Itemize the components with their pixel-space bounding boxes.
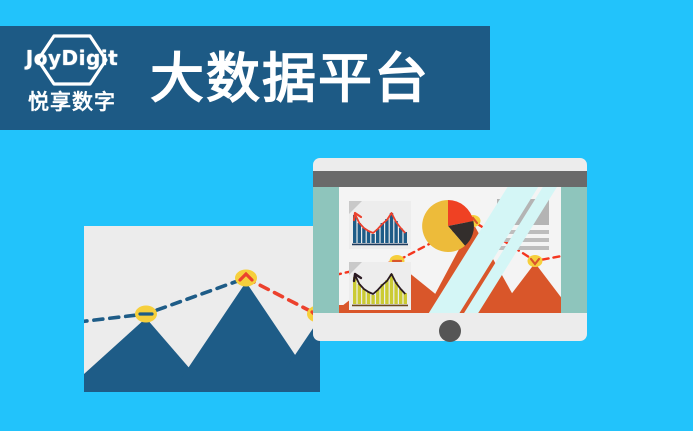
brand-logo-subtitle: 悦享数字 — [16, 92, 128, 113]
brand-logo: JoyDigit 悦享数字 — [16, 32, 128, 124]
header-banner: JoyDigit 悦享数字 大数据平台 — [0, 26, 490, 130]
screen-right-band — [561, 187, 587, 313]
donut-pie-chart — [421, 199, 475, 253]
mountain-area-series — [84, 282, 320, 392]
olive-bar-chart-card — [349, 262, 411, 310]
monitor-top-bezel — [313, 171, 587, 187]
monitor-screen — [313, 187, 587, 313]
desktop-monitor — [313, 158, 587, 341]
webcam-icon — [439, 320, 461, 342]
left-mountain-chart-svg — [84, 226, 320, 392]
text-line — [497, 230, 549, 234]
page-title: 大数据平台 — [150, 52, 430, 106]
poster-canvas: JoyDigit 悦享数字 大数据平台 — [0, 0, 693, 431]
olive-bar-chart-svg — [352, 270, 408, 308]
brand-logo-name: JoyDigit — [16, 48, 128, 68]
blue-bar-chart-card — [349, 201, 411, 249]
article-placeholder — [497, 199, 549, 250]
text-line — [497, 238, 549, 242]
text-line — [497, 246, 549, 250]
blue-bar-chart-svg — [352, 209, 408, 247]
dashboard-content — [339, 187, 561, 313]
image-placeholder — [497, 199, 549, 225]
screen-left-band — [313, 187, 339, 313]
dashed-trend-left — [84, 278, 246, 322]
mountain-line-chart-panel — [84, 226, 320, 392]
